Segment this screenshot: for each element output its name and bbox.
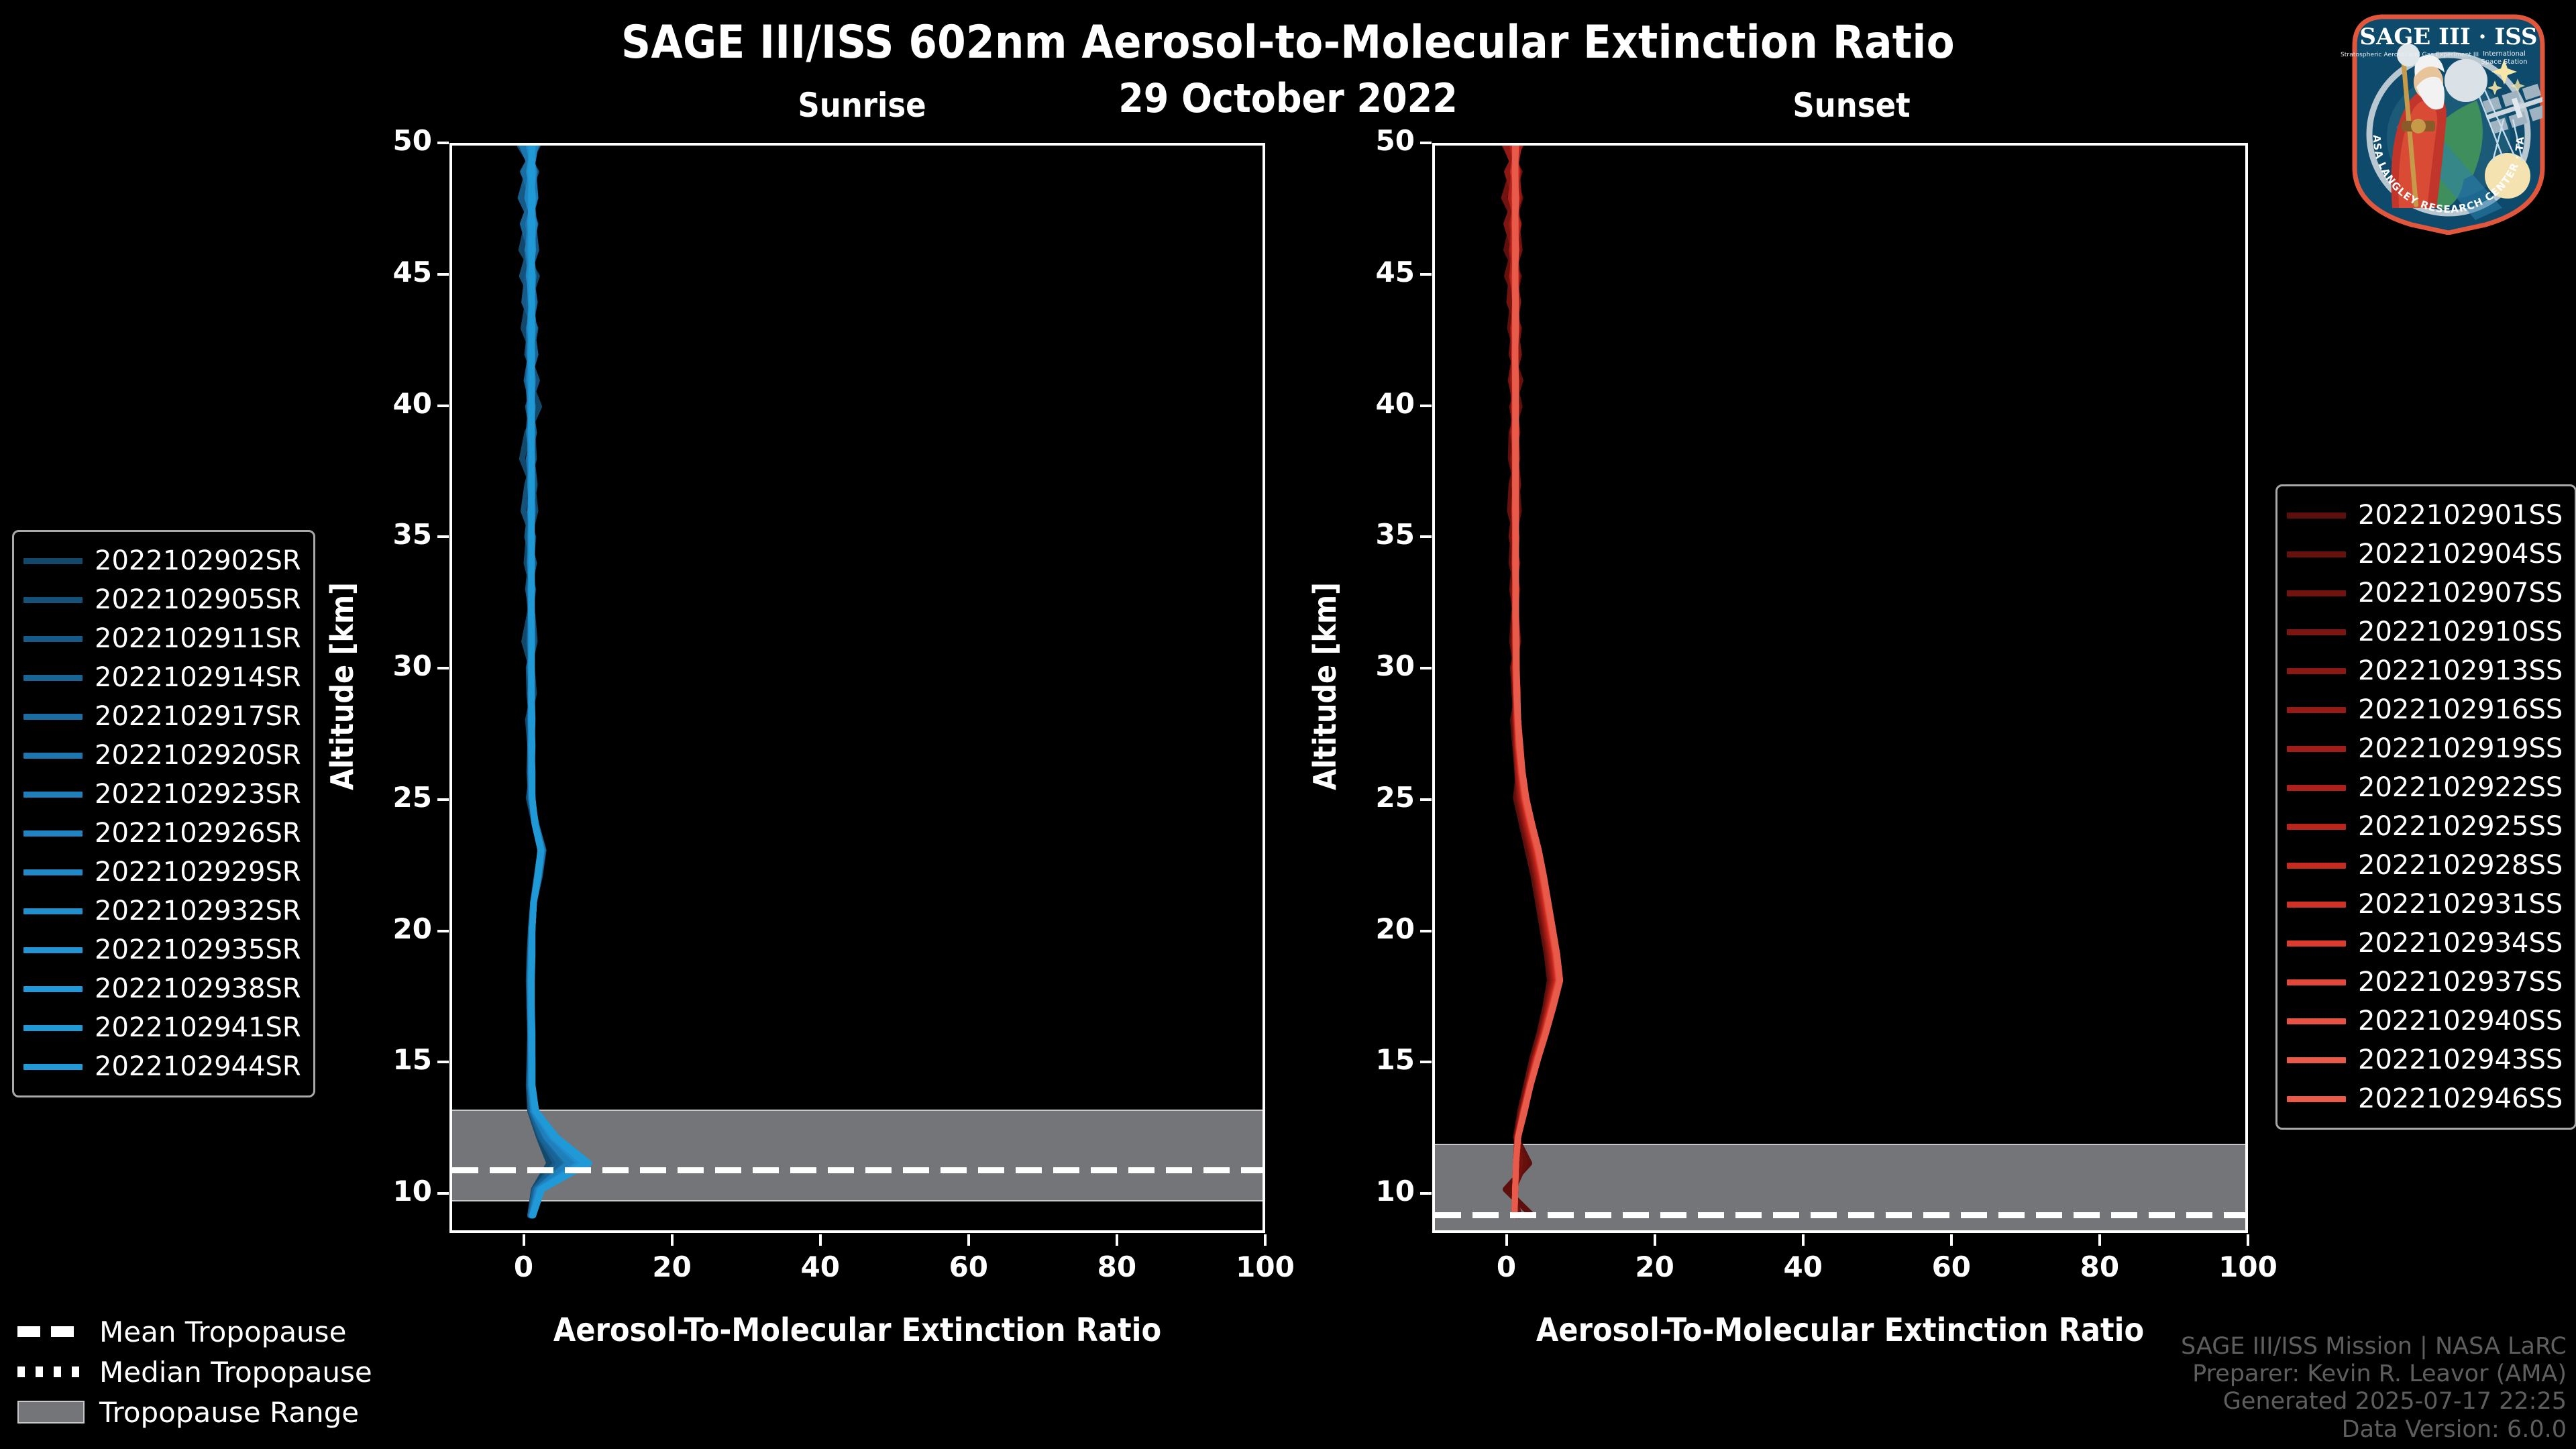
y-tick-label: 10 [352,1175,432,1207]
y-tick-label: 45 [1334,256,1415,288]
legend-item[interactable]: 2022102910SS [2287,612,2563,651]
legend-item-median-tropopause: Median Tropopause [17,1352,372,1392]
legend-color-swatch [23,753,83,759]
legend-color-swatch [2287,629,2346,635]
logo-title: SAGE III · ISS [2359,23,2537,50]
legend-color-swatch [23,792,83,798]
legend-event-label: 2022102935SR [95,934,301,965]
x-tick-mark [523,1234,525,1246]
series-line [530,146,586,1216]
legend-item-tropopause-range: Tropopause Range [17,1392,372,1432]
legend-event-label: 2022102946SS [2358,1083,2563,1114]
legend-event-label: 2022102922SS [2358,772,2563,803]
x-tick-mark [1505,1234,1508,1246]
legend-event-label: 2022102905SR [95,584,301,615]
legend-color-swatch [23,714,83,720]
legend-event-label: 2022102914SR [95,662,301,693]
legend-event-label: 2022102902SR [95,545,301,576]
sunrise-series-legend[interactable]: 2022102902SR2022102905SR2022102911SR2022… [12,530,315,1097]
x-tick-label: 20 [619,1250,726,1283]
legend-item[interactable]: 2022102944SR [23,1047,301,1086]
series-line [529,146,580,1216]
legend-event-label: 2022102916SS [2358,694,2563,725]
y-tick-label: 20 [1334,912,1415,945]
legend-color-swatch [2287,1018,2346,1024]
date-subtitle: 29 October 2022 [0,75,2576,122]
legend-color-swatch [23,597,83,603]
y-tick-label: 35 [352,518,432,551]
y-tick-mark [437,1061,449,1063]
sunset-series-legend[interactable]: 2022102901SS2022102904SS2022102907SS2022… [2275,484,2576,1130]
y-tick-label: 20 [352,912,432,945]
legend-event-label: 2022102940SS [2358,1006,2563,1036]
sunrise-curves [452,146,1263,1228]
legend-item[interactable]: 2022102914SR [23,658,301,697]
legend-event-label: 2022102928SS [2358,850,2563,881]
series-line [521,146,556,1216]
legend-label-range: Tropopause Range [99,1396,359,1429]
y-tick-label: 15 [352,1043,432,1076]
y-tick-label: 40 [1334,387,1415,420]
legend-color-swatch [2287,902,2346,908]
legend-item[interactable]: 2022102904SS [2287,535,2563,574]
sunset-x-axis-label: Aerosol-To-Molecular Extinction Ratio [1432,1311,2248,1349]
y-tick-mark [1420,930,1432,932]
legend-color-swatch [2287,1057,2346,1063]
legend-color-swatch [23,830,83,837]
legend-event-label: 2022102919SS [2358,733,2563,764]
y-tick-mark [437,535,449,538]
filled-rect-icon [17,1401,85,1424]
y-tick-label: 40 [352,387,432,420]
legend-color-swatch [2287,668,2346,674]
legend-item[interactable]: 2022102905SR [23,580,301,619]
y-tick-mark [1420,667,1432,669]
footer-credits: SAGE III/ISS Mission | NASA LaRC Prepare… [2181,1333,2567,1444]
legend-event-label: 2022102934SS [2358,928,2563,959]
legend-color-swatch [2287,513,2346,519]
legend-item[interactable]: 2022102931SS [2287,885,2563,924]
legend-item[interactable]: 2022102911SR [23,619,301,658]
sunset-median-tropopause-line [1435,1212,2245,1218]
legend-item[interactable]: 2022102919SS [2287,729,2563,768]
dotted-line-icon [17,1366,85,1377]
legend-color-swatch [2287,785,2346,791]
legend-item[interactable]: 2022102901SS [2287,496,2563,535]
y-tick-label: 25 [352,781,432,814]
legend-event-label: 2022102913SS [2358,655,2563,686]
legend-item[interactable]: 2022102902SR [23,541,301,580]
series-line [531,146,585,1216]
y-tick-label: 50 [352,124,432,157]
x-tick-mark [1950,1234,1953,1246]
y-tick-mark [437,405,449,407]
legend-color-swatch [23,908,83,914]
legend-label-mean: Mean Tropopause [99,1316,346,1348]
legend-event-label: 2022102943SS [2358,1044,2563,1075]
x-tick-label: 20 [1601,1250,1709,1283]
legend-item[interactable]: 2022102929SR [23,853,301,892]
legend-label-median: Median Tropopause [99,1356,372,1389]
legend-event-label: 2022102901SS [2358,500,2563,531]
y-tick-mark [1420,535,1432,538]
legend-item[interactable]: 2022102925SS [2287,807,2563,846]
x-tick-mark [1116,1234,1118,1246]
y-tick-mark [437,142,449,144]
x-tick-mark [967,1234,970,1246]
figure-canvas: SAGE III/ISS 602nm Aerosol-to-Molecular … [0,0,2576,1449]
series-line [531,146,590,1216]
legend-event-label: 2022102938SR [95,973,301,1004]
y-tick-mark [437,930,449,932]
x-tick-label: 40 [767,1250,874,1283]
footer-mission: SAGE III/ISS Mission | NASA LaRC [2181,1333,2567,1360]
legend-item[interactable]: 2022102935SR [23,930,301,969]
x-tick-label: 80 [2046,1250,2153,1283]
legend-color-swatch [2287,551,2346,557]
x-tick-label: 0 [1453,1250,1560,1283]
legend-color-swatch [23,558,83,564]
x-tick-label: 80 [1063,1250,1171,1283]
logo-subtitle-right-line2: Space Station [2481,58,2527,66]
sunset-panel-title: Sunset [1717,86,1986,125]
legend-item[interactable]: 2022102913SS [2287,651,2563,690]
tropopause-legend: Mean Tropopause Median Tropopause Tropop… [17,1311,372,1432]
legend-event-label: 2022102932SR [95,896,301,926]
legend-color-swatch [2287,824,2346,830]
legend-item[interactable]: 2022102934SS [2287,924,2563,963]
legend-item[interactable]: 2022102920SR [23,736,301,775]
y-tick-mark [1420,405,1432,407]
page-title: SAGE III/ISS 602nm Aerosol-to-Molecular … [0,16,2576,69]
sunrise-panel-title: Sunrise [728,86,996,125]
legend-item[interactable]: 2022102938SR [23,969,301,1008]
legend-event-label: 2022102926SR [95,818,301,849]
legend-event-label: 2022102917SR [95,701,301,732]
legend-event-label: 2022102944SR [95,1051,301,1082]
x-tick-label: 100 [2194,1250,2302,1283]
y-tick-mark [1420,1192,1432,1195]
legend-color-swatch [23,675,83,681]
legend-color-swatch [23,1064,83,1070]
legend-color-swatch [2287,746,2346,752]
legend-event-label: 2022102911SR [95,623,301,654]
legend-event-label: 2022102920SR [95,740,301,771]
legend-item[interactable]: 2022102941SR [23,1008,301,1047]
legend-event-label: 2022102910SS [2358,616,2563,647]
legend-color-swatch [23,869,83,875]
legend-color-swatch [2287,707,2346,713]
sage-iii-iss-mission-patch-logo: SAGE III · ISS Stratospheric Aerosol and… [2334,7,2563,235]
legend-color-swatch [2287,863,2346,869]
legend-event-label: 2022102907SS [2358,578,2563,608]
y-tick-label: 15 [1334,1043,1415,1076]
y-tick-label: 25 [1334,781,1415,814]
y-tick-label: 10 [1334,1175,1415,1207]
footer-generated: Generated 2025-07-17 22:25 [2181,1388,2567,1415]
legend-item-mean-tropopause: Mean Tropopause [17,1311,372,1352]
x-tick-mark [1802,1234,1805,1246]
x-tick-label: 40 [1750,1250,1857,1283]
logo-subtitle-left: Stratospheric Aerosol and Gas Experiment… [2341,51,2479,58]
legend-event-label: 2022102941SR [95,1012,301,1043]
y-tick-mark [1420,1061,1432,1063]
x-tick-mark [1654,1234,1656,1246]
x-tick-label: 0 [470,1250,578,1283]
legend-item[interactable]: 2022102946SS [2287,1079,2563,1118]
x-tick-mark [1264,1234,1267,1246]
legend-item[interactable]: 2022102922SS [2287,768,2563,807]
sunrise-plot-area [449,143,1265,1233]
legend-color-swatch [2287,941,2346,947]
x-tick-mark [819,1234,822,1246]
legend-item[interactable]: 2022102940SS [2287,1002,2563,1040]
x-tick-label: 60 [915,1250,1022,1283]
legend-event-label: 2022102931SS [2358,889,2563,920]
legend-event-label: 2022102904SS [2358,539,2563,570]
sunset-curves [1435,146,2245,1228]
y-tick-mark [1420,798,1432,801]
legend-event-label: 2022102929SR [95,857,301,888]
y-tick-label: 35 [1334,518,1415,551]
legend-item[interactable]: 2022102917SR [23,697,301,736]
legend-item[interactable]: 2022102916SS [2287,690,2563,729]
legend-color-swatch [23,1025,83,1031]
y-tick-mark [437,1192,449,1195]
x-tick-label: 60 [1898,1250,2005,1283]
legend-event-label: 2022102937SS [2358,967,2563,998]
sunrise-median-tropopause-line [452,1167,1263,1173]
sunset-plot-area [1432,143,2248,1233]
footer-preparer: Preparer: Kevin R. Leavor (AMA) [2181,1360,2567,1388]
legend-event-label: 2022102923SR [95,779,301,810]
legend-item[interactable]: 2022102928SS [2287,846,2563,885]
legend-color-swatch [2287,590,2346,596]
y-tick-label: 30 [1334,649,1415,682]
x-tick-mark [2247,1234,2249,1246]
legend-color-swatch [23,636,83,642]
legend-item[interactable]: 2022102926SR [23,814,301,853]
y-tick-mark [437,273,449,276]
y-tick-mark [1420,142,1432,144]
y-tick-mark [437,798,449,801]
y-tick-label: 45 [352,256,432,288]
logo-subtitle-right-line1: International [2483,50,2526,58]
y-tick-label: 50 [1334,124,1415,157]
legend-item[interactable]: 2022102907SS [2287,574,2563,612]
footer-data-version: Data Version: 6.0.0 [2181,1416,2567,1444]
x-tick-mark [671,1234,674,1246]
legend-event-label: 2022102925SS [2358,811,2563,842]
legend-item[interactable]: 2022102937SS [2287,963,2563,1002]
legend-item[interactable]: 2022102923SR [23,775,301,814]
x-tick-label: 100 [1212,1250,1319,1283]
legend-color-swatch [23,947,83,953]
legend-item[interactable]: 2022102943SS [2287,1040,2563,1079]
legend-color-swatch [2287,979,2346,985]
y-tick-mark [437,667,449,669]
x-tick-mark [2098,1234,2101,1246]
series-line [1515,146,1560,1216]
legend-color-swatch [2287,1096,2346,1102]
legend-item[interactable]: 2022102932SR [23,892,301,930]
y-tick-mark [1420,273,1432,276]
series-line [532,146,588,1216]
dashed-line-icon [17,1326,85,1337]
y-tick-label: 30 [352,649,432,682]
legend-color-swatch [23,986,83,992]
sunrise-x-axis-label: Aerosol-To-Molecular Extinction Ratio [449,1311,1265,1349]
